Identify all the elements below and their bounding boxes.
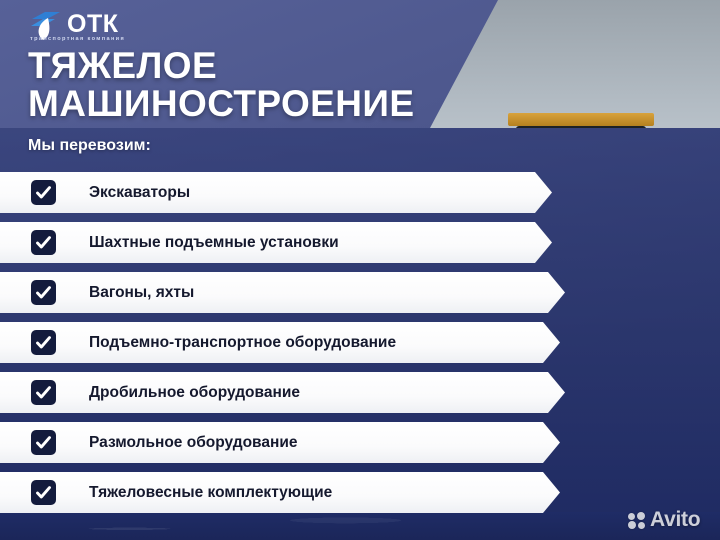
list-item-label: Шахтные подъемные установки bbox=[89, 222, 339, 263]
subheading: Мы перевозим: bbox=[28, 137, 151, 155]
list-item-label: Экскаваторы bbox=[89, 172, 190, 213]
checkmark-icon bbox=[31, 230, 56, 255]
checkmark-icon bbox=[31, 430, 56, 455]
headline-line-2: МАШИНОСТРОЕНИЕ bbox=[28, 85, 414, 123]
list-item[interactable]: Подъемно-транспортное оборудование bbox=[0, 322, 720, 363]
promo-banner: CAT 966 ОТК транспортная компания bbox=[0, 0, 720, 540]
services-checklist: ЭкскаваторыШахтные подъемные установкиВа… bbox=[0, 172, 720, 522]
checkmark-icon bbox=[31, 330, 56, 355]
list-item[interactable]: Вагоны, яхты bbox=[0, 272, 720, 313]
logo-tagline: транспортная компания bbox=[30, 36, 125, 42]
cab-roof-part bbox=[508, 113, 654, 126]
list-item[interactable]: Размольное оборудование bbox=[0, 422, 720, 463]
list-item[interactable]: Дробильное оборудование bbox=[0, 372, 720, 413]
list-item-label: Дробильное оборудование bbox=[89, 372, 300, 413]
checkmark-icon bbox=[31, 180, 56, 205]
logo-wordmark: ОТК bbox=[67, 10, 118, 38]
list-item-label: Подъемно-транспортное оборудование bbox=[89, 322, 396, 363]
avito-four-circles-icon bbox=[628, 512, 645, 529]
list-item-bar bbox=[0, 172, 552, 213]
list-item-label: Тяжеловесные комплектующие bbox=[89, 472, 332, 513]
avito-watermark: Avito bbox=[628, 508, 700, 532]
checkmark-icon bbox=[31, 380, 56, 405]
list-item-bar bbox=[0, 272, 565, 313]
checkmark-icon bbox=[31, 480, 56, 505]
list-item-label: Вагоны, яхты bbox=[89, 272, 194, 313]
avito-label: Avito bbox=[650, 508, 700, 532]
list-item[interactable]: Экскаваторы bbox=[0, 172, 720, 213]
checkmark-icon bbox=[31, 280, 56, 305]
list-item[interactable]: Тяжеловесные комплектующие bbox=[0, 472, 720, 513]
page-title: ТЯЖЕЛОЕ МАШИНОСТРОЕНИЕ bbox=[28, 47, 414, 123]
list-item[interactable]: Шахтные подъемные установки bbox=[0, 222, 720, 263]
headline-line-1: ТЯЖЕЛОЕ bbox=[28, 47, 414, 85]
list-item-label: Размольное оборудование bbox=[89, 422, 298, 463]
